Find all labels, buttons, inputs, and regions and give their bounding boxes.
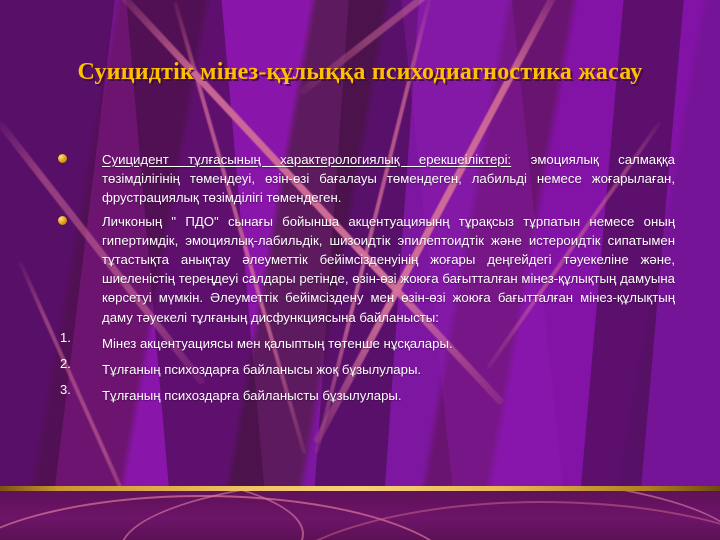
- bullet-item: Суицидент тұлғасының характерологиялық е…: [50, 150, 675, 208]
- bullet-marker: [50, 150, 102, 166]
- list-item-text: Мінез акцентуациясы мен қалыптың төтенше…: [102, 331, 675, 357]
- presentation-slide: Суицидтік мінез-құлыққа психодиагностика…: [0, 0, 720, 540]
- list-number-marker: 2.: [50, 357, 102, 373]
- slide-body: Суицидент тұлғасының характерологиялық е…: [50, 150, 675, 409]
- list-item: 3. Тұлғаның психоздарға байланысты бұзыл…: [50, 383, 675, 409]
- list-number: 1.: [60, 330, 71, 345]
- list-number-marker: 1.: [50, 331, 102, 347]
- footer-curve-4: [0, 491, 304, 540]
- bullet-text: Суицидент тұлғасының характерологиялық е…: [102, 150, 675, 208]
- list-item: 1. Мінез акцентуациясы мен қалыптың төте…: [50, 331, 675, 357]
- sphere-bullet-icon: [58, 154, 67, 163]
- slide-title: Суицидтік мінез-құлыққа психодиагностика…: [36, 57, 684, 87]
- bullet-item: Личконың " ПДО" сынағы бойынша акцентуац…: [50, 212, 675, 327]
- list-item: 2. Тұлғаның психоздарға байланысы жоқ бұ…: [50, 357, 675, 383]
- slide-footer-band: [0, 491, 720, 540]
- list-number: 3.: [60, 382, 71, 397]
- bullet-lead-underlined: Суицидент тұлғасының характерологиялық е…: [102, 152, 511, 167]
- list-item-text: Тұлғаның психоздарға байланысы жоқ бұзыл…: [102, 357, 675, 383]
- bullet-text: Личконың " ПДО" сынағы бойынша акцентуац…: [102, 212, 675, 327]
- list-item-text: Тұлғаның психоздарға байланысты бұзылула…: [102, 383, 675, 409]
- list-number: 2.: [60, 356, 71, 371]
- sphere-bullet-icon: [58, 216, 67, 225]
- bullet-marker: [50, 212, 102, 228]
- list-number-marker: 3.: [50, 383, 102, 399]
